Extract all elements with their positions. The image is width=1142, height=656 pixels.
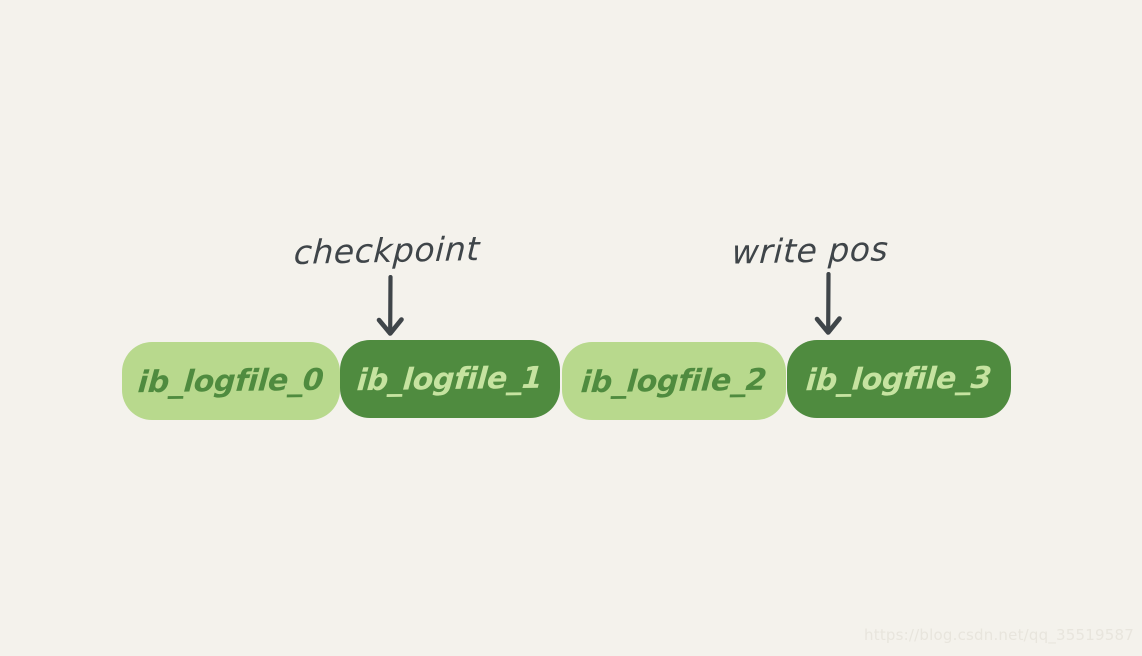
log-block-label: ib_logfile_2 [580, 362, 768, 400]
log-block-label: ib_logfile_3 [805, 360, 993, 398]
log-block-ib-logfile-2: ib_logfile_2 [562, 342, 786, 420]
log-block-ib-logfile-1: ib_logfile_1 [340, 340, 560, 418]
log-block-ib-logfile-3: ib_logfile_3 [787, 340, 1011, 418]
diagram-canvas: checkpoint write pos ib_logfile_0 ib_log… [0, 0, 1142, 656]
write-pos-arrow-icon [808, 272, 848, 342]
checkpoint-label: checkpoint [293, 229, 481, 272]
log-block-label: ib_logfile_0 [137, 362, 325, 400]
write-pos-label: write pos [731, 229, 889, 271]
log-block-label: ib_logfile_1 [356, 360, 544, 398]
checkpoint-arrow-icon [370, 275, 410, 345]
log-block-ib-logfile-0: ib_logfile_0 [122, 342, 340, 420]
watermark: https://blog.csdn.net/qq_35519587 [864, 626, 1134, 644]
